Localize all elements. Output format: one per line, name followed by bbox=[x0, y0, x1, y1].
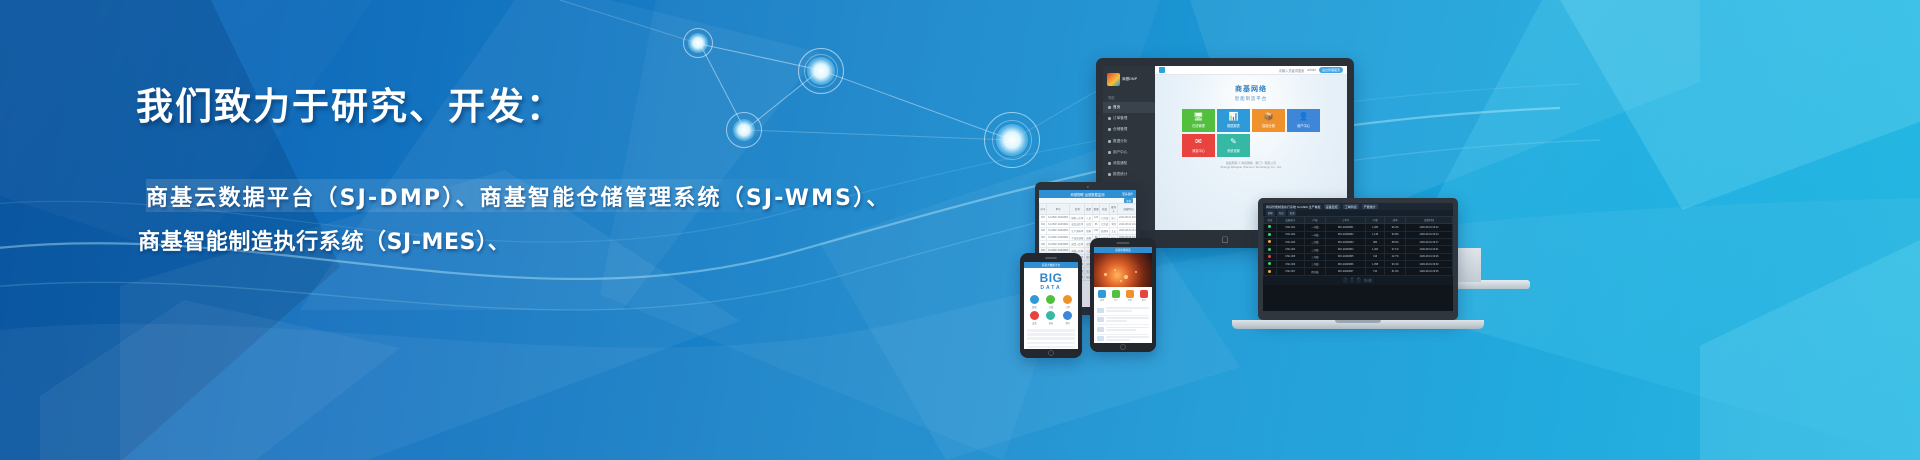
page-button[interactable]: 3 bbox=[1356, 278, 1360, 283]
table-row[interactable]: CNC-006三号线WO-202008061,05893.4%2020-08-0… bbox=[1264, 261, 1453, 268]
tile-messages[interactable]: ✉ 消息中心 bbox=[1182, 134, 1215, 157]
table-cell: 一号线 bbox=[1304, 224, 1326, 231]
status-badge bbox=[1264, 268, 1277, 275]
refresh-button[interactable]: 刷新 bbox=[1266, 210, 1275, 215]
dashboard-tiles: 🖥 在线管理 📊 数据报表 📦 智能仓储 bbox=[1182, 109, 1320, 157]
table-row[interactable]: 001SJ-DMP-20200801物料入库单入库120已完成张三2020-08… bbox=[1040, 215, 1137, 222]
phone-device-right: 商基智能制造 首页生产仓库统计 bbox=[1090, 238, 1156, 352]
table-cell: SJ-DMP-20200804 bbox=[1047, 234, 1070, 241]
page-button[interactable]: 1 bbox=[1343, 278, 1347, 283]
tile-label: 智能仓储 bbox=[1262, 123, 1275, 128]
column-header: 工单号 bbox=[1326, 217, 1366, 224]
table-cell: CNC-002 bbox=[1276, 231, 1304, 238]
table-cell: 张三 bbox=[1110, 215, 1118, 222]
column-header: 操作人 bbox=[1110, 204, 1118, 215]
tab-work-orders[interactable]: 工单列表 bbox=[1343, 204, 1359, 209]
sidebar-section-label: 导航 bbox=[1103, 93, 1155, 102]
mail-icon bbox=[1108, 162, 1111, 165]
glow-node bbox=[683, 28, 713, 58]
shortcut-item[interactable]: 统计 bbox=[1138, 290, 1150, 302]
table-cell: 980 bbox=[1366, 238, 1385, 245]
table-cell: WO-20200805 bbox=[1326, 253, 1366, 260]
table-cell: 240 bbox=[1093, 228, 1100, 235]
table-cell: WO-20200807 bbox=[1326, 268, 1366, 275]
table-cell: SJ-DMP-20200803 bbox=[1047, 228, 1070, 235]
thumbnail bbox=[1097, 317, 1104, 322]
shortcut-label: 仓库 bbox=[1128, 299, 1132, 302]
pencil-icon: ✎ bbox=[1230, 138, 1237, 146]
user-icon: 👤 bbox=[1299, 113, 1309, 121]
admin-home-button[interactable]: 后台管理首页 bbox=[1319, 67, 1343, 73]
camera-icon bbox=[1086, 186, 1088, 188]
box-icon bbox=[1108, 128, 1111, 131]
table-cell: CNC-005 bbox=[1276, 253, 1304, 260]
table-cell: WO-20200802 bbox=[1326, 231, 1366, 238]
tablet-title: 商基物联 运营数据监测 bbox=[1071, 192, 1105, 197]
status-dot-icon bbox=[1268, 240, 1271, 243]
tile-settings[interactable]: ✎ 系统设置 bbox=[1217, 134, 1250, 157]
table-row[interactable]: 002SJ-DMP-20200802成品出库单出库86已完成李四2020-08-… bbox=[1040, 221, 1137, 228]
laptop-data-table: 状态设备编号产线工单号产量效率更新时间 CNC-001一号线WO-2020080… bbox=[1263, 216, 1453, 276]
laptop-screen: 商基智能制造执行系统 SJ-MES 生产看板 设备监控 工单列表 产能统计 刷新… bbox=[1263, 203, 1453, 311]
desktop-footer: 版权所有 © 商基网络（厦门）有限公司 Shangji Wangluo (Xia… bbox=[1220, 157, 1281, 175]
chart-icon bbox=[1030, 295, 1039, 304]
table-cell: 004 bbox=[1040, 234, 1047, 241]
status-dot-icon bbox=[1268, 225, 1271, 228]
search-input[interactable]: 请输入关键词搜索 bbox=[1279, 68, 1305, 73]
hero-line-2: 商基智能制造执行系统（SJ-MES）、 bbox=[136, 221, 956, 265]
column-header: 更新时间 bbox=[1406, 217, 1453, 224]
hero-line-1: 商基云数据平台（SJ-DMP）、商基智能仓储管理系统（SJ-WMS）、 bbox=[136, 177, 956, 221]
shortcut-item[interactable]: 仓储 bbox=[1044, 295, 1059, 309]
sidebar-item-label: 仓储管理 bbox=[1113, 127, 1127, 132]
table-cell: 已完成 bbox=[1100, 221, 1110, 228]
column-header: 单号 bbox=[1047, 204, 1070, 215]
box-icon bbox=[1046, 295, 1055, 304]
box-icon bbox=[1126, 290, 1134, 298]
logo-text: 商基DMP bbox=[1122, 77, 1137, 82]
list-icon bbox=[1108, 117, 1111, 120]
status-badge bbox=[1264, 246, 1277, 253]
list-item bbox=[1027, 337, 1075, 340]
table-cell: 2020-08-01 09:12 bbox=[1118, 215, 1136, 222]
chart-icon bbox=[1108, 140, 1111, 143]
column-header: 效率 bbox=[1385, 217, 1406, 224]
chart-icon bbox=[1140, 290, 1148, 298]
home-button-icon[interactable] bbox=[1048, 350, 1054, 356]
sidebar-nav: 首页 订单管理 仓储管理 数据分析 bbox=[1103, 102, 1155, 192]
sidebar-item-home[interactable]: 首页 bbox=[1103, 102, 1155, 113]
table-cell: 120 bbox=[1093, 215, 1100, 222]
shortcut-item[interactable]: 首页 bbox=[1096, 290, 1108, 302]
tile-online-mgmt[interactable]: 🖥 在线管理 bbox=[1182, 109, 1215, 132]
status-dot-icon bbox=[1268, 248, 1271, 251]
hero-image bbox=[1094, 253, 1152, 287]
status-badge bbox=[1264, 231, 1277, 238]
shortcut-label: 数据 bbox=[1032, 305, 1036, 309]
shortcut-item[interactable]: 设备 bbox=[1027, 311, 1042, 325]
desktop-topbar: 请输入关键词搜索 admin 后台管理首页 bbox=[1155, 66, 1347, 75]
speaker-icon bbox=[1117, 242, 1130, 244]
sidebar-item-analytics[interactable]: 数据分析 bbox=[1103, 136, 1155, 147]
tile-label: 系统设置 bbox=[1227, 148, 1240, 153]
list-item[interactable] bbox=[1097, 306, 1149, 316]
table-cell: 93.4% bbox=[1385, 261, 1406, 268]
table-cell: 2020-08-02 10:24 bbox=[1118, 221, 1136, 228]
shortcut-item[interactable]: 报表 bbox=[1044, 311, 1059, 325]
factory-icon bbox=[1112, 290, 1120, 298]
column-header: 状态 bbox=[1100, 204, 1110, 215]
hero-brand-subtitle: 智能制造平台 bbox=[1235, 96, 1267, 102]
bigdata-subtitle: DATA bbox=[1024, 285, 1078, 291]
table-cell: 物料入库单 bbox=[1070, 215, 1085, 222]
sidebar-item-label: 数据分析 bbox=[1113, 139, 1127, 144]
table-cell: 1,146 bbox=[1366, 231, 1385, 238]
page-button[interactable]: 下一页 bbox=[1363, 278, 1373, 283]
mail-icon: ✉ bbox=[1195, 138, 1202, 146]
status-badge bbox=[1264, 224, 1277, 231]
table-cell: 2020-08-01 09:12 bbox=[1406, 224, 1453, 231]
list-item bbox=[1027, 342, 1075, 345]
phone-right-shortcuts: 首页生产仓库统计 bbox=[1094, 287, 1152, 305]
table-cell: 42.7% bbox=[1385, 253, 1406, 260]
pagination: 123下一页 bbox=[1263, 276, 1453, 285]
table-cell: 出库 bbox=[1085, 221, 1093, 228]
table-row[interactable]: CNC-007四号线WO-2020080774281.9%2020-08-01 … bbox=[1264, 268, 1453, 275]
shortcut-label: 仓储 bbox=[1049, 305, 1053, 309]
table-cell: 94.8% bbox=[1385, 231, 1406, 238]
gear-icon bbox=[1030, 311, 1039, 320]
table-cell: 316 bbox=[1366, 253, 1385, 260]
status-dot-icon bbox=[1268, 270, 1271, 273]
shortcut-item[interactable]: 仓库 bbox=[1124, 290, 1136, 302]
table-cell: WO-20200806 bbox=[1326, 261, 1366, 268]
table-cell: 三号线 bbox=[1304, 261, 1326, 268]
table-cell: WO-20200804 bbox=[1326, 246, 1366, 253]
user-icon bbox=[1108, 151, 1111, 154]
column-header: 创建时间 bbox=[1118, 204, 1136, 215]
table-cell: 1,402 bbox=[1366, 246, 1385, 253]
sidebar-item-label: 用户中心 bbox=[1113, 150, 1127, 155]
topbar-right: 请输入关键词搜索 admin 后台管理首页 bbox=[1279, 67, 1343, 73]
table-cell: 已完成 bbox=[1100, 215, 1110, 222]
hero-subtext: 商基云数据平台（SJ-DMP）、商基智能仓储管理系统（SJ-WMS）、 商基智能… bbox=[136, 177, 956, 265]
table-row[interactable]: CNC-001一号线WO-202008011,28096.2%2020-08-0… bbox=[1264, 224, 1453, 231]
thumbnail bbox=[1097, 327, 1104, 332]
status-badge bbox=[1264, 253, 1277, 260]
table-cell: CNC-003 bbox=[1276, 238, 1304, 245]
table-cell: 四号线 bbox=[1304, 268, 1326, 275]
phone-left-shortcuts: 数据仓储订单设备报表我的 bbox=[1024, 293, 1078, 327]
account-label[interactable]: admin bbox=[1307, 68, 1316, 72]
table-cell: 001 bbox=[1040, 215, 1047, 222]
table-cell: 入库 bbox=[1085, 215, 1093, 222]
table-cell: 2020-08-01 09:14 bbox=[1406, 231, 1453, 238]
chart-icon: 📊 bbox=[1229, 113, 1239, 121]
table-cell: 005 bbox=[1040, 241, 1047, 248]
company-line: Shangji Wangluo (Xiamen) Technology Co.,… bbox=[1220, 165, 1281, 169]
home-button-icon[interactable] bbox=[1120, 344, 1126, 350]
status-badge bbox=[1264, 261, 1277, 268]
sidebar-item-orders[interactable]: 订单管理 bbox=[1103, 113, 1155, 124]
table-cell: CNC-001 bbox=[1276, 224, 1304, 231]
sidebar-item-label: 首页 bbox=[1113, 105, 1120, 110]
table-cell: CNC-007 bbox=[1276, 268, 1304, 275]
column-header: 数量 bbox=[1093, 204, 1100, 215]
sidebar-item-reports[interactable]: 报表统计 bbox=[1103, 169, 1155, 180]
table-cell: 王五 bbox=[1110, 228, 1118, 235]
table-cell: 领料 bbox=[1085, 228, 1093, 235]
tile-label: 用户中心 bbox=[1297, 123, 1310, 128]
shortcut-label: 首页 bbox=[1100, 299, 1104, 302]
logo-mark-icon bbox=[1107, 73, 1120, 86]
box-icon: 📦 bbox=[1264, 113, 1274, 121]
apple-logo-icon:  bbox=[1222, 235, 1229, 245]
table-row[interactable]: 003SJ-DMP-20200803生产领料单领料240处理中王五2020-08… bbox=[1040, 228, 1137, 235]
shortcut-label: 统计 bbox=[1142, 299, 1146, 302]
phone-device-left: 商基大数据平台 BIG DATA 数据仓储订单设备报表我的 bbox=[1020, 253, 1082, 358]
shortcut-label: 生产 bbox=[1114, 299, 1118, 302]
table-cell: 86 bbox=[1093, 221, 1100, 228]
list-item bbox=[1027, 346, 1075, 349]
tile-warehouse[interactable]: 📦 智能仓储 bbox=[1252, 109, 1285, 132]
list-item bbox=[1027, 329, 1075, 332]
sidebar-item-users[interactable]: 用户中心 bbox=[1103, 147, 1155, 158]
column-header: 序号 bbox=[1040, 204, 1047, 215]
table-cell: 李四 bbox=[1110, 221, 1118, 228]
shortcut-label: 我的 bbox=[1065, 321, 1069, 325]
speaker-icon bbox=[1045, 257, 1057, 259]
table-cell: 三号线 bbox=[1304, 253, 1326, 260]
tablet-titlebar: 商基物联 运营数据监测 更多操作 bbox=[1039, 190, 1136, 198]
table-cell: 一号线 bbox=[1304, 231, 1326, 238]
table-cell: SJ-DMP-20200801 bbox=[1047, 215, 1070, 222]
table-cell: CNC-006 bbox=[1276, 261, 1304, 268]
column-header: 产线 bbox=[1304, 217, 1326, 224]
table-cell: CNC-004 bbox=[1276, 246, 1304, 253]
table-cell: 742 bbox=[1366, 268, 1385, 275]
table-cell: 96.2% bbox=[1385, 224, 1406, 231]
home-icon bbox=[1108, 106, 1111, 109]
phone-right-list bbox=[1094, 305, 1152, 343]
status-dot-icon bbox=[1268, 262, 1271, 265]
sidebar-item-warehouse[interactable]: 仓储管理 bbox=[1103, 124, 1155, 135]
table-cell: 003 bbox=[1040, 228, 1047, 235]
tab-device-monitor[interactable]: 设备监控 bbox=[1324, 204, 1340, 209]
table-cell: 半成品调拨 bbox=[1070, 234, 1085, 241]
hero-copy: 我们致力于研究、开发： 商基云数据平台（SJ-DMP）、商基智能仓储管理系统（S… bbox=[136, 84, 956, 265]
page-button[interactable]: 2 bbox=[1350, 278, 1354, 283]
tile-label: 消息中心 bbox=[1192, 148, 1205, 153]
table-cell: 生产领料单 bbox=[1070, 228, 1085, 235]
table-cell: 2020-08-01 09:30 bbox=[1406, 261, 1453, 268]
table-cell: WO-20200801 bbox=[1326, 224, 1366, 231]
table-row[interactable]: CNC-004二号线WO-202008041,40297.1%2020-08-0… bbox=[1264, 246, 1453, 253]
tile-reports[interactable]: 📊 数据报表 bbox=[1217, 109, 1250, 132]
table-cell: 2020-08-01 09:26 bbox=[1406, 253, 1453, 260]
list-item[interactable] bbox=[1097, 325, 1149, 335]
device-cluster: 商基DMP 导航 首页 订单管理 bbox=[990, 0, 1920, 460]
doc-icon bbox=[1046, 311, 1055, 320]
export-button[interactable]: 导出 bbox=[1277, 210, 1286, 215]
table-cell: 2020-08-03 11:03 bbox=[1118, 228, 1136, 235]
table-cell: SJ-DMP-20200805 bbox=[1047, 241, 1070, 248]
status-badge bbox=[1264, 238, 1277, 245]
tile-label: 数据报表 bbox=[1227, 123, 1240, 128]
laptop-title: 商基智能制造执行系统 SJ-MES 生产看板 bbox=[1266, 205, 1321, 209]
list-icon bbox=[1063, 295, 1072, 304]
search-button[interactable]: 查询 bbox=[1288, 210, 1297, 215]
table-cell: 退货入库单 bbox=[1070, 241, 1085, 248]
thumbnail bbox=[1097, 336, 1104, 341]
table-row[interactable]: CNC-003二号线WO-2020080398088.5%2020-08-01 … bbox=[1264, 238, 1453, 245]
table-cell: 81.9% bbox=[1385, 268, 1406, 275]
column-header: 状态 bbox=[1264, 217, 1277, 224]
tile-user-center[interactable]: 👤 用户中心 bbox=[1287, 109, 1320, 132]
column-header: 名称 bbox=[1070, 204, 1085, 215]
bigdata-title: BIG bbox=[1024, 271, 1078, 285]
phone-left-list bbox=[1024, 327, 1078, 349]
laptop-titlebar: 商基智能制造执行系统 SJ-MES 生产看板 设备监控 工单列表 产能统计 bbox=[1263, 203, 1453, 210]
table-cell: 2020-08-01 09:21 bbox=[1406, 246, 1453, 253]
table-cell: 处理中 bbox=[1100, 228, 1110, 235]
laptop-base bbox=[1232, 320, 1484, 329]
monitor-icon: 🖥 bbox=[1193, 113, 1203, 121]
laptop-device: 商基智能制造执行系统 SJ-MES 生产看板 设备监控 工单列表 产能统计 刷新… bbox=[1258, 198, 1458, 320]
bigdata-banner: BIG DATA bbox=[1024, 268, 1078, 293]
user-icon bbox=[1063, 311, 1072, 320]
hero-banner: 我们致力于研究、开发： 商基云数据平台（SJ-DMP）、商基智能仓储管理系统（S… bbox=[0, 0, 1920, 460]
column-header: 产量 bbox=[1366, 217, 1385, 224]
table-cell: 1,058 bbox=[1366, 261, 1385, 268]
table-cell: 2020-08-01 09:17 bbox=[1406, 238, 1453, 245]
home-icon bbox=[1098, 290, 1106, 298]
sidebar-item-messages[interactable]: 消息通知 bbox=[1103, 158, 1155, 169]
shortcut-label: 订单 bbox=[1065, 305, 1069, 309]
table-cell: 1,280 bbox=[1366, 224, 1385, 231]
shortcut-label: 报表 bbox=[1049, 321, 1053, 325]
list-item bbox=[1027, 333, 1075, 336]
sidebar-item-label: 报表统计 bbox=[1113, 172, 1127, 177]
table-cell: 002 bbox=[1040, 221, 1047, 228]
table-cell: WO-20200803 bbox=[1326, 238, 1366, 245]
table-cell: SJ-DMP-20200802 bbox=[1047, 221, 1070, 228]
phone-right-screen: 商基智能制造 首页生产仓库统计 bbox=[1094, 247, 1152, 343]
shortcut-item[interactable]: 生产 bbox=[1110, 290, 1122, 302]
shortcut-item[interactable]: 数据 bbox=[1027, 295, 1042, 309]
sidebar-item-label: 消息通知 bbox=[1113, 161, 1127, 166]
table-cell: 88.5% bbox=[1385, 238, 1406, 245]
thumbnail bbox=[1097, 308, 1104, 313]
doc-icon bbox=[1108, 173, 1111, 176]
hero-brand-title: 商基网络 bbox=[1235, 84, 1267, 94]
table-cell: 97.1% bbox=[1385, 246, 1406, 253]
table-cell: 成品出库单 bbox=[1070, 221, 1085, 228]
list-item[interactable] bbox=[1097, 316, 1149, 326]
app-tile-icon bbox=[1159, 67, 1165, 73]
status-dot-icon bbox=[1268, 255, 1271, 258]
table-row[interactable]: CNC-005三号线WO-2020080531642.7%2020-08-01 … bbox=[1264, 253, 1453, 260]
more-menu-button[interactable]: 更多操作 bbox=[1122, 192, 1133, 196]
status-dot-icon bbox=[1268, 233, 1271, 236]
table-header-row: 状态设备编号产线工单号产量效率更新时间 bbox=[1264, 217, 1453, 224]
page-title: 我们致力于研究、开发： bbox=[136, 84, 956, 130]
column-header: 设备编号 bbox=[1276, 217, 1304, 224]
column-header: 类型 bbox=[1085, 204, 1093, 215]
search-button[interactable]: 查询 bbox=[1124, 198, 1133, 203]
table-cell: 二号线 bbox=[1304, 238, 1326, 245]
table-cell: 二号线 bbox=[1304, 246, 1326, 253]
shortcut-item[interactable]: 我的 bbox=[1060, 311, 1075, 325]
table-cell: 2020-08-01 09:35 bbox=[1406, 268, 1453, 275]
brand-logo: 商基DMP bbox=[1103, 71, 1155, 93]
sidebar-item-label: 订单管理 bbox=[1113, 116, 1127, 121]
tile-label: 在线管理 bbox=[1192, 123, 1205, 128]
shortcut-label: 设备 bbox=[1032, 321, 1036, 325]
list-item[interactable] bbox=[1097, 335, 1149, 343]
tab-capacity-stats[interactable]: 产能统计 bbox=[1362, 204, 1378, 209]
table-header-row: 序号单号名称类型数量状态操作人创建时间 bbox=[1040, 204, 1137, 215]
table-row[interactable]: CNC-002一号线WO-202008021,14694.8%2020-08-0… bbox=[1264, 231, 1453, 238]
shortcut-item[interactable]: 订单 bbox=[1060, 295, 1075, 309]
phone-left-screen: 商基大数据平台 BIG DATA 数据仓储订单设备报表我的 bbox=[1024, 262, 1078, 349]
